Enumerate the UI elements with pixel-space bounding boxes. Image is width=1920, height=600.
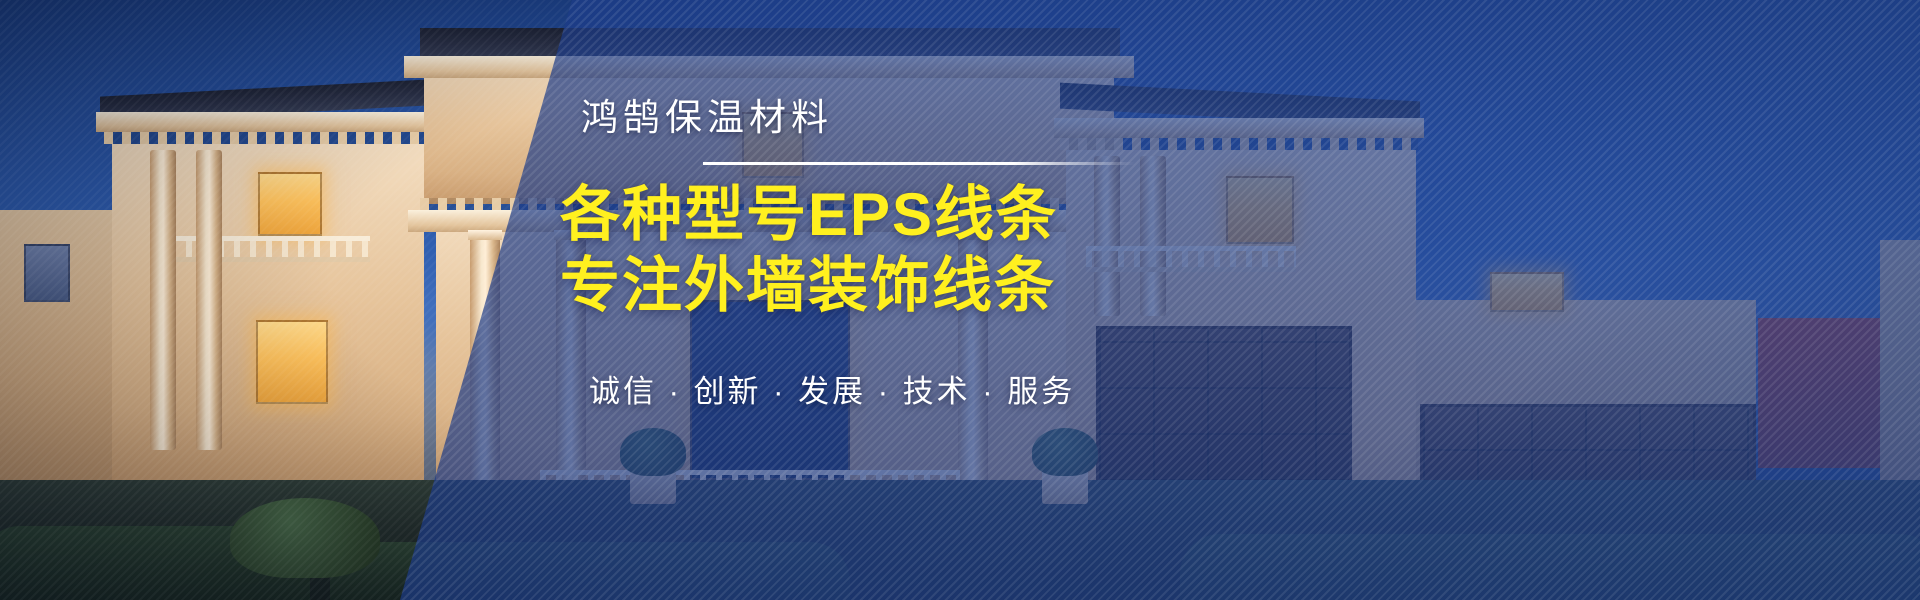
headline-line-2: 专注外墙装饰线条 [560, 252, 1235, 320]
headline-line-1: 各种型号EPS线条 [560, 181, 1235, 249]
brand-eyebrow: 鸿鹄保温材料 [581, 96, 1235, 140]
banner-copy: 鸿鹄保温材料 各种型号EPS线条 专注外墙装饰线条 诚信 · 创新 · 发展 ·… [555, 96, 1235, 411]
tagline: 诚信 · 创新 · 发展 · 技术 · 服务 [589, 366, 1235, 411]
divider-rule [703, 162, 1135, 165]
hero-banner: 鸿鹄保温材料 各种型号EPS线条 专注外墙装饰线条 诚信 · 创新 · 发展 ·… [0, 0, 1920, 600]
